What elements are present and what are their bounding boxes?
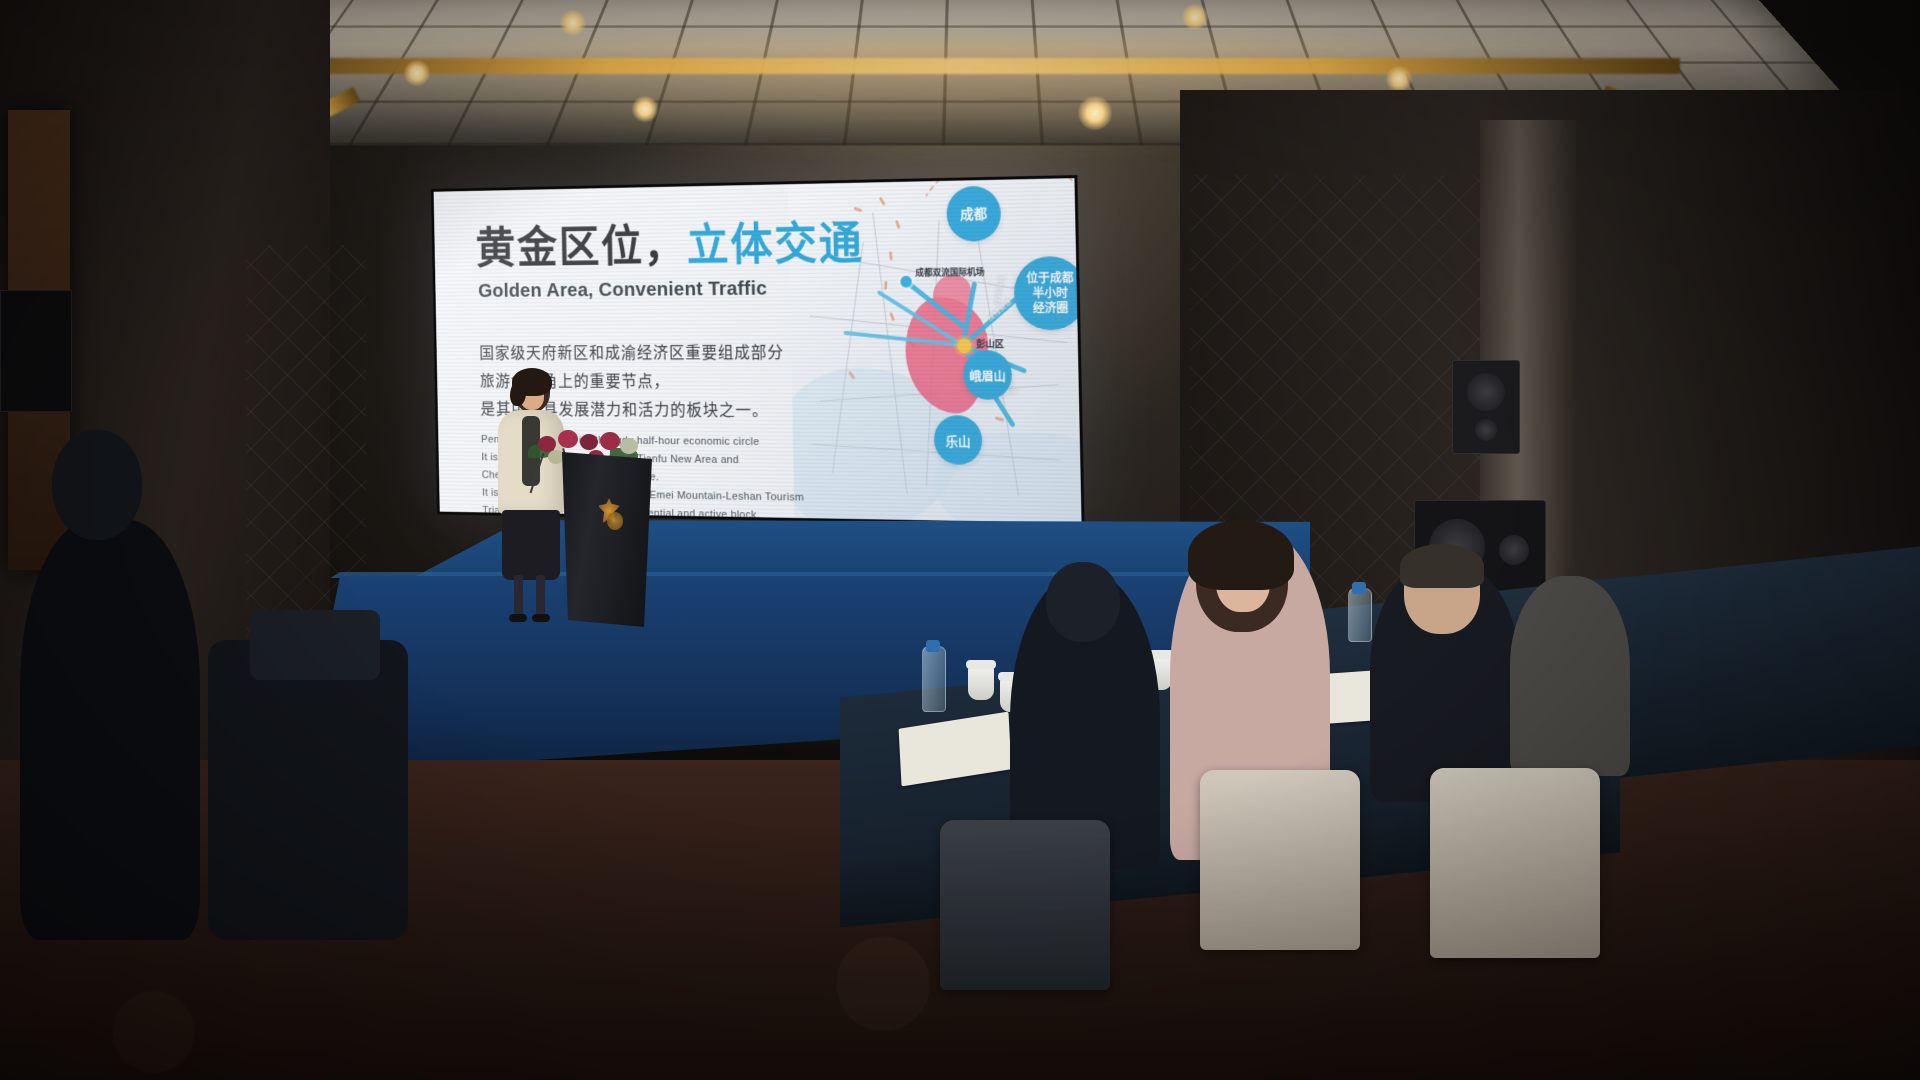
foreground-person-left-head — [52, 430, 142, 540]
speaker-cone — [1467, 373, 1505, 411]
slide-title-chinese: 黄金区位，立体交通 — [475, 220, 864, 269]
map-node-airport — [900, 276, 912, 288]
slide-title-english: Golden Area, Convenient Traffic — [478, 277, 767, 302]
ceiling-downlight — [560, 10, 586, 36]
ceiling-downlight — [1182, 4, 1208, 30]
water-bottle — [1348, 588, 1372, 642]
map-bubble-leshan[interactable]: 乐山 — [934, 415, 983, 465]
audience-person — [1510, 576, 1630, 776]
ceiling-downlight — [1078, 96, 1112, 130]
audience-chair — [1430, 768, 1600, 958]
map-boundary-dash — [884, 281, 887, 290]
cove-light-strip-center — [250, 58, 1680, 74]
ceiling-downlight — [1386, 66, 1412, 92]
audience-chair — [940, 820, 1110, 990]
foreground-audience-area — [0, 520, 1920, 1080]
audience-person-hair — [1400, 544, 1484, 588]
map-hub-label: 彭山区 — [976, 336, 1004, 350]
bottle-cap — [1352, 582, 1366, 594]
foreground-equipment-top — [250, 610, 380, 680]
wall-speaker-upper — [1452, 360, 1520, 454]
flower-bloom — [620, 438, 638, 454]
presenter-hair-side — [510, 380, 526, 406]
slide-title-chinese-accent: 立体交通 — [686, 217, 864, 270]
conference-hall-screenshot: 成雅高速 成乐高速 成绵高速 成都双流国际机场 彭山区 成都 峨眉山 乐山 位于… — [0, 0, 1920, 1080]
flower-bloom — [548, 450, 564, 464]
slide-title-chinese-main: 黄金区位 — [475, 221, 644, 272]
foreground-equipment-case — [208, 640, 408, 940]
audience-person-hair — [1188, 520, 1294, 590]
flower-bloom — [580, 434, 598, 450]
slide-title-chinese-comma: ， — [643, 220, 687, 270]
map-node-airport-label: 成都双流国际机场 — [915, 265, 984, 279]
map-bubble-emeishan[interactable]: 峨眉山 — [963, 350, 1012, 400]
audience-chair — [1200, 770, 1360, 950]
ceiling-downlight — [632, 96, 658, 122]
speaker-tweeter — [1475, 419, 1497, 441]
bottle-cap — [926, 640, 940, 652]
foreground-person-left — [20, 520, 200, 940]
flower-bloom — [600, 432, 620, 450]
tea-cup — [968, 666, 994, 700]
wall-monitor-left — [0, 290, 72, 412]
slide-body-chinese-line: 国家级天府新区和成渝经济区重要组成部分 — [479, 339, 857, 368]
flower-bloom — [558, 430, 578, 448]
audience-person-head — [1046, 562, 1120, 642]
map-hub-marker — [957, 338, 972, 353]
tea-cup-lid — [966, 660, 996, 669]
ceiling-downlight — [404, 60, 430, 86]
water-bottle — [922, 646, 946, 712]
